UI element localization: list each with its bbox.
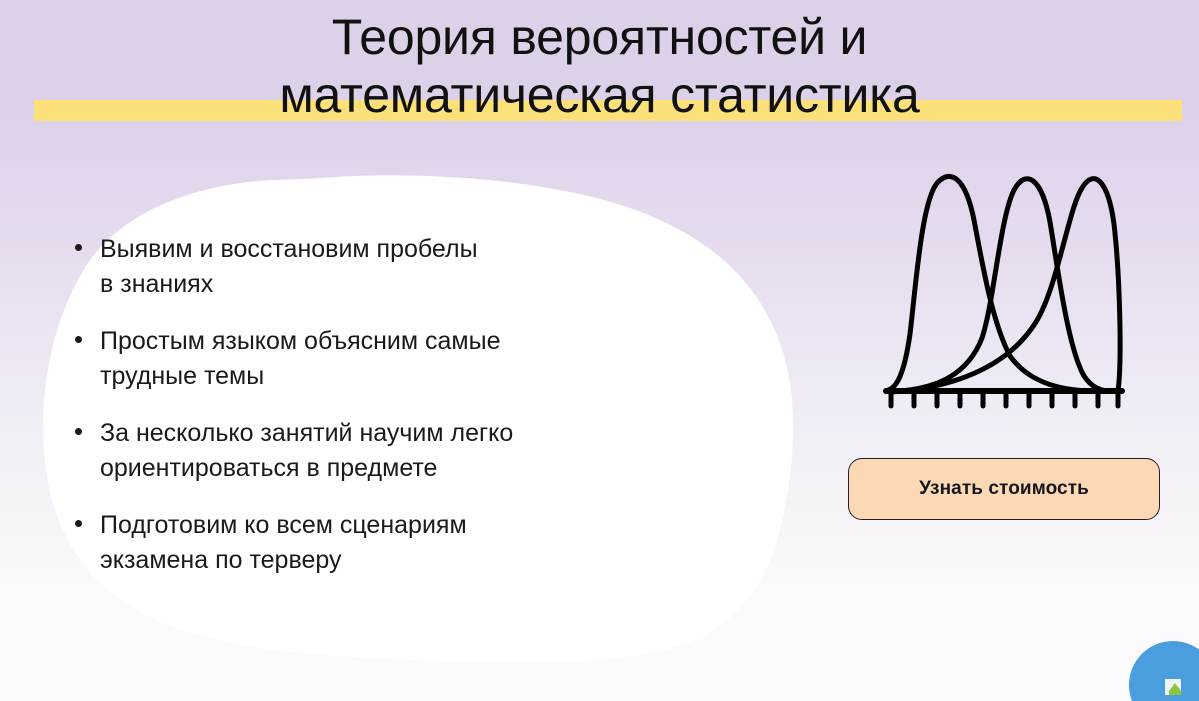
slide-root: Теория вероятностей и математическая ста…	[0, 0, 1199, 701]
list-item: За несколько занятий научим легко ориент…	[75, 416, 755, 486]
bullet-dot-icon	[75, 244, 82, 251]
list-item-label: Подготовим ко всем сценариям экзамена по…	[100, 508, 467, 578]
list-item: Выявим и восстановим пробелы в знаниях	[75, 232, 755, 302]
list-item: Подготовим ко всем сценариям экзамена по…	[75, 508, 755, 578]
bullet-dot-icon	[75, 336, 82, 343]
blue-circle-badge-icon	[1119, 631, 1199, 701]
list-item-label: За несколько занятий научим легко ориент…	[100, 416, 513, 486]
bullet-dot-icon	[75, 428, 82, 435]
page-title: Теория вероятностей и математическая ста…	[0, 8, 1199, 124]
learn-price-button-label: Узнать стоимость	[919, 478, 1089, 500]
learn-price-button[interactable]: Узнать стоимость	[848, 458, 1160, 520]
title-line-2: математическая статистика	[0, 66, 1199, 124]
bullet-dot-icon	[75, 520, 82, 527]
bell-curves-icon	[878, 162, 1130, 412]
list-item-label: Выявим и восстановим пробелы в знаниях	[100, 232, 478, 302]
list-item-label: Простым языком объясним самые трудные те…	[100, 324, 500, 394]
list-item: Простым языком объясним самые трудные те…	[75, 324, 755, 394]
title-line-1: Теория вероятностей и	[0, 8, 1199, 66]
benefits-list: Выявим и восстановим пробелы в знаниях П…	[75, 232, 755, 578]
